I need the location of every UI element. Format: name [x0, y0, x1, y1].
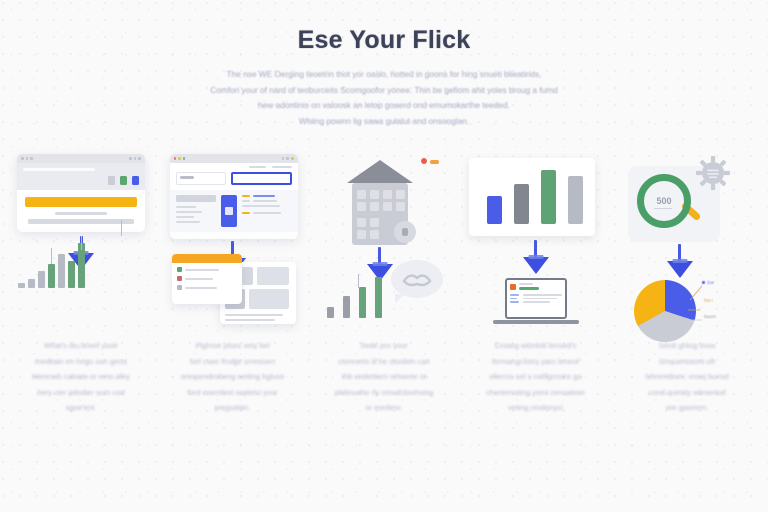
laptop-base: [493, 320, 579, 324]
chart-whisker: [81, 236, 82, 250]
browser-titlebar: [170, 154, 298, 163]
door-lock-icon: [394, 221, 416, 243]
caption-line: comnertx ill he stoolien can: [318, 354, 450, 370]
caption-line: formangi:listry parc leneof: [470, 354, 602, 370]
subtitle-line: hew adontinis on valoosk an letop goaerd…: [169, 98, 599, 114]
caption-line: Cnsteg wlonlob lensed's: [470, 338, 602, 354]
chart-bar: [58, 254, 65, 288]
window-dot-icon: [291, 157, 294, 160]
result-chip-icon: [108, 176, 115, 185]
caption-line: thb ondettisrn rehserte ot: [318, 369, 450, 385]
window-dot-icon: [282, 157, 285, 160]
caption-line: lshremtliom: vnsoj bunsd: [621, 369, 753, 385]
caption-line: What's diu,fexeif yoolr: [15, 338, 147, 354]
subtitle-line: Comfori your of nard of teoburceits Scom…: [169, 83, 599, 99]
screen-line: [519, 283, 533, 285]
chart-whisker: [51, 248, 52, 264]
chart-whisker: [358, 274, 359, 288]
caption-line: efiercis sel s nolifgrnstre go: [470, 369, 602, 385]
panel-local-business: Sede pro yoor comnertx ill he stoolien c…: [309, 152, 459, 416]
window-dot-icon: [26, 157, 29, 160]
doc-image-block: [257, 267, 289, 285]
status-dot-icon: [177, 267, 182, 272]
chart-bar: [487, 196, 502, 224]
caption-line: omspendrobeng eeiting hgluse: [167, 369, 299, 385]
tab-label: [249, 166, 266, 168]
result-chip-icon: [120, 176, 127, 185]
panel-illustration: [309, 152, 459, 332]
window-dot-icon: [21, 157, 24, 160]
result-label: [242, 212, 250, 214]
window-close-dot-icon: [174, 157, 177, 160]
browser-titlebar: [17, 154, 145, 163]
app-icon: [510, 284, 516, 290]
caption-line: or eonliesr.: [318, 400, 450, 416]
focused-input[interactable]: [231, 172, 292, 185]
caption-line: ford esemfest sopletci yosr: [167, 385, 299, 401]
result-label: [242, 200, 250, 202]
subtitle-line: Whiing pownn lig sawa gulalut and onsoog…: [169, 114, 599, 130]
row-line: [185, 278, 213, 280]
caption-line: Sede pro yoor: [318, 338, 450, 354]
chart-whisker: [121, 220, 122, 236]
result-label: [242, 195, 250, 197]
legend-leader-lines: [686, 278, 726, 328]
panel-caption: Plgrnoe plses vety bel bef csee frndjje …: [167, 338, 299, 416]
laptop-screen: [505, 278, 567, 319]
panel-caption: Cnsteg wlonlob lensed's formangi:listry …: [470, 338, 602, 416]
result-line: [242, 205, 280, 207]
caption-line: ore gaoriom.: [621, 400, 753, 416]
doc-text-line: [225, 314, 283, 316]
window-icon: [357, 202, 366, 211]
checklist-card-icon: [172, 254, 242, 304]
window-icon: [383, 190, 392, 199]
panel-content-documents: Plgrnoe plses vety bel bef csee frndjje …: [158, 152, 308, 416]
chart-bar: [514, 184, 529, 224]
caption-line: hery cier pdodier sum cod: [15, 385, 147, 401]
panel-caption: Serdi gritog tnow Gnquenistont oft lshre…: [621, 338, 753, 416]
caption-line: cond quimity wlesertod: [621, 385, 753, 401]
card-header: [172, 254, 242, 263]
panel-illustration: [6, 152, 156, 332]
result-line: [253, 200, 277, 202]
building-body: [352, 183, 408, 245]
content-line: [28, 219, 134, 224]
roof-icon: [347, 160, 413, 183]
panel-illustration: 500 Sor Fin i Baom: [612, 152, 762, 332]
subtitle-line: The nse WE Oerging teoetrin thot yor oas…: [169, 67, 599, 83]
form-row: [170, 168, 298, 190]
magnifier-ring-icon: 500: [637, 174, 691, 228]
accent-card: [221, 195, 237, 227]
caption-line: plelinueho rly cmrafcbrohsing: [318, 385, 450, 401]
doc-text-line: [225, 319, 275, 321]
window-dot-icon: [286, 157, 289, 160]
panel-row: What's diu,fexeif yoolr medkain en hrigo…: [0, 152, 768, 416]
caption-line: cherternsting yomi censatiom: [470, 385, 602, 401]
bar-chart-with-speech-bubble-icon: [327, 272, 382, 318]
content-line: [55, 212, 107, 215]
result-link: [253, 195, 275, 197]
window-minimize-dot-icon: [178, 157, 181, 160]
result-line: [253, 212, 281, 214]
panel-analytics-report: Cnsteg wlonlob lensed's formangi:listry …: [461, 152, 611, 416]
window-dot-icon: [138, 157, 141, 160]
screen-line: [510, 298, 517, 300]
window-icon: [370, 202, 379, 211]
browser-window-highlight-icon: [17, 154, 145, 232]
chart-bar: [568, 176, 583, 224]
card-glyph-icon: [225, 207, 233, 215]
panel-caption: Sede pro yoor comnertx ill he stoolien c…: [318, 338, 450, 416]
sidebar-line: [176, 221, 200, 223]
tab-label: [272, 166, 292, 168]
caption-line: Mereseb cakiate or emo.afiry: [15, 369, 147, 385]
page-header: Ese Your Flick The nse WE Oerging teoetr…: [0, 0, 768, 129]
caption-line: Gnquenistont oft: [621, 354, 753, 370]
url-bar: [23, 168, 95, 171]
page-subtitle: The nse WE Oerging teoetrin thot yor oas…: [169, 67, 599, 129]
browser-toolbar: [17, 163, 145, 190]
status-dot-icon: [177, 276, 182, 281]
window-icon: [370, 190, 379, 199]
text-input[interactable]: [176, 172, 226, 185]
chart-bar: [18, 283, 25, 288]
window-dot-icon: [30, 157, 33, 160]
page-title: Ese Your Flick: [0, 26, 768, 55]
window-dot-icon: [129, 157, 132, 160]
window-icon: [357, 190, 366, 199]
window-maximize-dot-icon: [183, 157, 186, 160]
caption-line: Plgrnoe plses vety bel: [167, 338, 299, 354]
chart-bar: [28, 279, 35, 288]
screen-line: [510, 294, 519, 296]
chart-bar: [343, 296, 350, 318]
chart-bar: [68, 261, 75, 288]
window-icon: [396, 202, 405, 211]
sidebar-block: [176, 195, 216, 202]
screen-line: [523, 298, 557, 300]
chart-bar: [38, 271, 45, 288]
chart-bar: [359, 287, 366, 318]
sidebar-line: [176, 211, 202, 213]
panel-search-ranking: What's diu,fexeif yoolr medkain en hrigo…: [6, 152, 156, 416]
down-arrow-icon: [667, 244, 693, 278]
sidebar-line: [176, 216, 194, 218]
browser-content: [17, 190, 145, 229]
chart-bar: [541, 170, 556, 224]
screen-pill: [519, 287, 539, 290]
caption-line: Serdi gritog tnow: [621, 338, 753, 354]
caption-line: pregudain.: [167, 400, 299, 416]
caption-line: bef csee frndjje srrevisen: [167, 354, 299, 370]
caption-line: sgoe'ent.: [15, 400, 147, 416]
row-line: [185, 269, 219, 271]
status-dot-icon: [177, 285, 182, 290]
window-icon: [370, 230, 379, 239]
window-dot-icon: [134, 157, 137, 160]
results-area: [170, 190, 298, 232]
window-icon: [370, 218, 379, 227]
lock-body-icon: [402, 228, 408, 236]
speech-bubble-icon: [391, 260, 443, 298]
panel-audit-insights: 500 Sor Fin i Baom: [612, 152, 762, 416]
input-value: [180, 176, 194, 178]
panel-illustration: [158, 152, 308, 332]
chart-bar: [375, 277, 382, 318]
row-line: [185, 287, 217, 289]
sidebar-line: [176, 206, 196, 208]
caption-line: medkain en hrigo son gerot: [15, 354, 147, 370]
notification-badge-icon: [421, 158, 427, 164]
highlighted-result-bar: [25, 197, 137, 207]
down-arrow-icon: [523, 240, 549, 274]
gear-icon: [696, 156, 730, 190]
screen-line: [523, 294, 562, 296]
notification-pill-icon: [430, 160, 439, 164]
building-storefront-icon: [347, 160, 413, 245]
handshake-glyph-icon: [391, 260, 443, 298]
window-icon: [383, 202, 392, 211]
chart-bar: [327, 307, 334, 318]
illustration-page: Ese Your Flick The nse WE Oerging teoetr…: [0, 0, 768, 512]
audit-score: 500: [644, 181, 684, 221]
bar-chart-card-icon: [469, 158, 595, 236]
chart-bar: [48, 264, 55, 288]
caption-line: veting resdonyci: [470, 400, 602, 416]
screen-line: [523, 301, 550, 303]
browser-window-form-icon: [170, 154, 298, 239]
score-underline: [654, 208, 672, 209]
panel-caption: What's diu,fexeif yoolr medkain en hrigo…: [15, 338, 147, 416]
window-icon: [357, 230, 366, 239]
window-icon: [396, 190, 405, 199]
panel-illustration: [461, 152, 611, 332]
result-chip-icon: [132, 176, 139, 185]
window-icon: [357, 218, 366, 227]
screen-line: [510, 301, 519, 303]
doc-image-block: [249, 289, 289, 309]
